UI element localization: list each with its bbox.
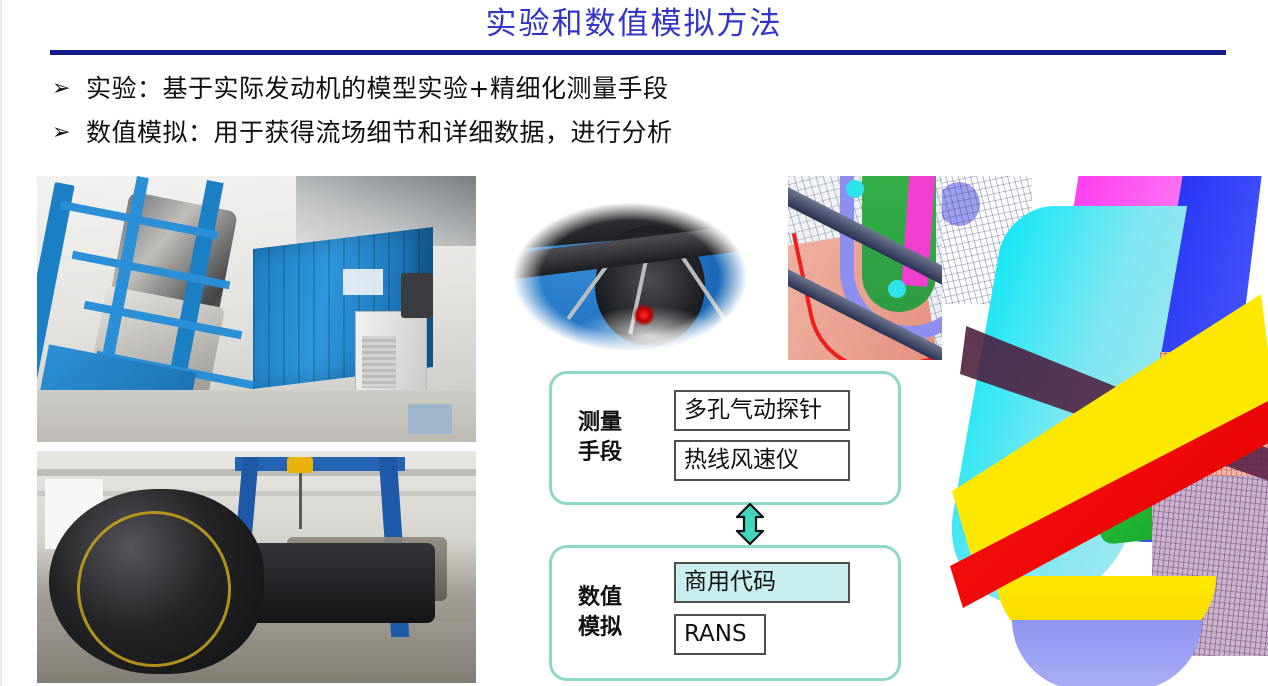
probe-closeup-photo bbox=[487, 186, 773, 368]
engine-test-rig-photo bbox=[37, 176, 476, 442]
simulation-group-label: 数值 模拟 bbox=[578, 583, 648, 643]
bullet-text-2: 数值模拟：用于获得流场细节和详细数据，进行分析 bbox=[86, 114, 673, 152]
oval-vignette bbox=[487, 186, 773, 368]
numerical-simulation-group: 数值 模拟 商用代码 RANS bbox=[549, 545, 901, 681]
item-commercial-code[interactable]: 商用代码 bbox=[674, 562, 850, 603]
double-headed-arrow-icon bbox=[735, 503, 765, 545]
arrowhead-bullet-icon: ➢ bbox=[52, 70, 86, 108]
waste-bin bbox=[401, 273, 433, 318]
simulation-group-label-line2: 模拟 bbox=[578, 613, 648, 643]
measurement-group-label: 测量 手段 bbox=[578, 408, 648, 468]
item-multi-hole-probe[interactable]: 多孔气动探针 bbox=[674, 390, 850, 431]
nozzle-duct-photo bbox=[37, 451, 476, 683]
simulation-group-label-line1: 数值 bbox=[578, 583, 648, 613]
surface-blue-lower bbox=[1012, 620, 1202, 686]
slide-left-edge bbox=[0, 0, 2, 686]
page-title: 实验和数值模拟方法 bbox=[0, 2, 1268, 46]
item-rans[interactable]: RANS bbox=[674, 614, 766, 655]
cyan-marker-lower bbox=[888, 280, 906, 298]
title-divider bbox=[50, 50, 1226, 55]
bullet-text-1: 实验：基于实际发动机的模型实验+精细化测量手段 bbox=[86, 70, 668, 108]
bullet-list: ➢ 实验：基于实际发动机的模型实验+精细化测量手段 ➢ 数值模拟：用于获得流场细… bbox=[52, 70, 1152, 158]
bullet-item-2: ➢ 数值模拟：用于获得流场细节和详细数据，进行分析 bbox=[52, 114, 1152, 152]
measurement-method-group: 测量 手段 多孔气动探针 热线风速仪 bbox=[549, 371, 901, 505]
cyan-marker-upper bbox=[846, 180, 864, 198]
laser-spot-icon bbox=[633, 304, 655, 326]
arrowhead-bullet-icon: ➢ bbox=[52, 114, 86, 152]
step-stool bbox=[408, 404, 452, 434]
cfd-3d-result-image bbox=[942, 176, 1268, 686]
measurement-group-label-line1: 测量 bbox=[578, 408, 648, 438]
hoist-trolley bbox=[287, 457, 313, 473]
slide-canvas: 实验和数值模拟方法 ➢ 实验：基于实际发动机的模型实验+精细化测量手段 ➢ 数值… bbox=[0, 0, 1268, 686]
bullet-item-1: ➢ 实验：基于实际发动机的模型实验+精细化测量手段 bbox=[52, 70, 1152, 108]
item-hot-wire-anemometer[interactable]: 热线风速仪 bbox=[674, 440, 850, 481]
measurement-group-label-line2: 手段 bbox=[578, 438, 648, 468]
duct-body bbox=[245, 543, 435, 623]
duct-label-plate bbox=[343, 269, 383, 295]
hoist-chain bbox=[299, 473, 302, 529]
